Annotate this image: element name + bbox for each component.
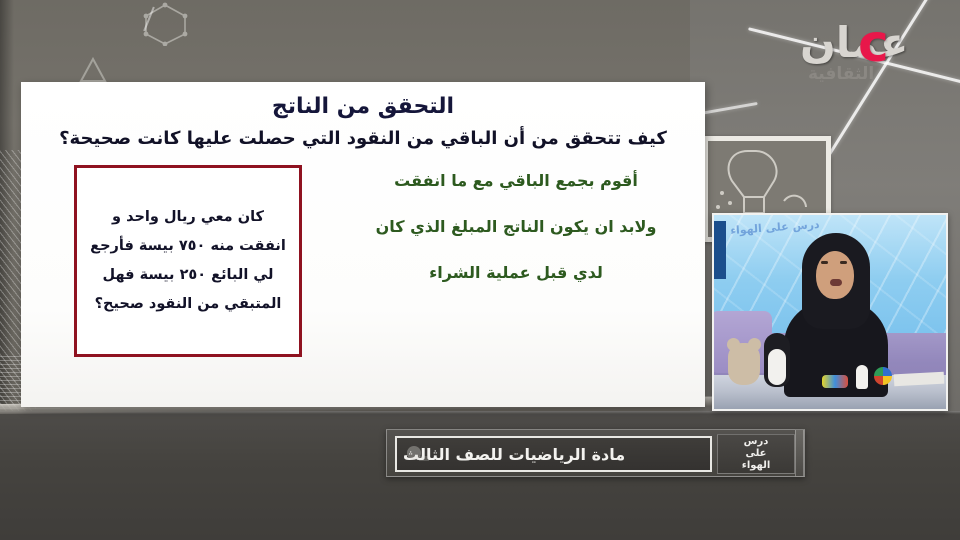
program-title-plate: مادة الرياضيات للصف الثالث bbox=[395, 436, 712, 472]
teddy-bear-toy bbox=[728, 343, 760, 385]
example-problem-text: كان معي ريال واحد و انفقت منه ٧٥٠ بيسة ف… bbox=[77, 199, 299, 323]
presenter-video-inset[interactable]: درس على الهواء bbox=[712, 213, 948, 411]
lower-third-end-cap bbox=[795, 429, 804, 477]
presenter-face bbox=[816, 251, 854, 299]
answer-steps: أقوم بجمع الباقي مع ما انفقت ولابد ان يك… bbox=[341, 157, 691, 295]
channel-logo-word: عمان bbox=[800, 18, 908, 67]
presenter-eye-right bbox=[840, 261, 847, 264]
answer-step-2: ولابد ان يكون الناتج المبلغ الذي كان bbox=[341, 203, 691, 249]
lesson-title: التحقق من الناتج bbox=[21, 94, 705, 119]
desk-toy-blocks bbox=[822, 375, 848, 388]
channel-logo: عمان c الثقافية bbox=[800, 18, 915, 88]
desk-toy-ball bbox=[874, 367, 892, 385]
lesson-body: كان معي ريال واحد و انفقت منه ٧٥٠ بيسة ف… bbox=[21, 151, 705, 341]
answer-step-3: لدي قبل عملية الشراء bbox=[341, 249, 691, 295]
lesson-whiteboard: التحقق من الناتج كيف تتحقق من أن الباقي … bbox=[21, 82, 705, 407]
channel-logo-subtitle: الثقافية bbox=[808, 64, 874, 84]
on-air-badge-line-2: على bbox=[745, 448, 766, 460]
presenter-mouth bbox=[830, 279, 842, 286]
microphone-icon bbox=[407, 446, 421, 460]
answer-step-1: أقوم بجمع الباقي مع ما انفقت bbox=[341, 157, 691, 203]
presenter-eye-left bbox=[821, 261, 828, 264]
penguin-toy bbox=[764, 333, 790, 387]
on-air-badge-line-3: الهواء bbox=[742, 460, 771, 472]
desk-toy-rocket bbox=[856, 365, 868, 389]
on-air-badge: درس على الهواء bbox=[717, 434, 795, 474]
presenter-figure bbox=[788, 237, 884, 387]
broadcast-screen: عمان c الثقافية التحقق من الناتج كيف تتح… bbox=[0, 0, 960, 540]
lower-third-banner: مادة الرياضيات للصف الثالث درس على الهوا… bbox=[386, 429, 805, 477]
lesson-question: كيف تتحقق من أن الباقي من النقود التي حص… bbox=[49, 127, 677, 151]
on-air-badge-line-1: درس bbox=[744, 436, 769, 448]
example-problem-box: كان معي ريال واحد و انفقت منه ٧٥٠ بيسة ف… bbox=[74, 165, 302, 357]
program-title: مادة الرياضيات للصف الثالث bbox=[397, 445, 635, 464]
studio-side-panel bbox=[714, 221, 726, 279]
